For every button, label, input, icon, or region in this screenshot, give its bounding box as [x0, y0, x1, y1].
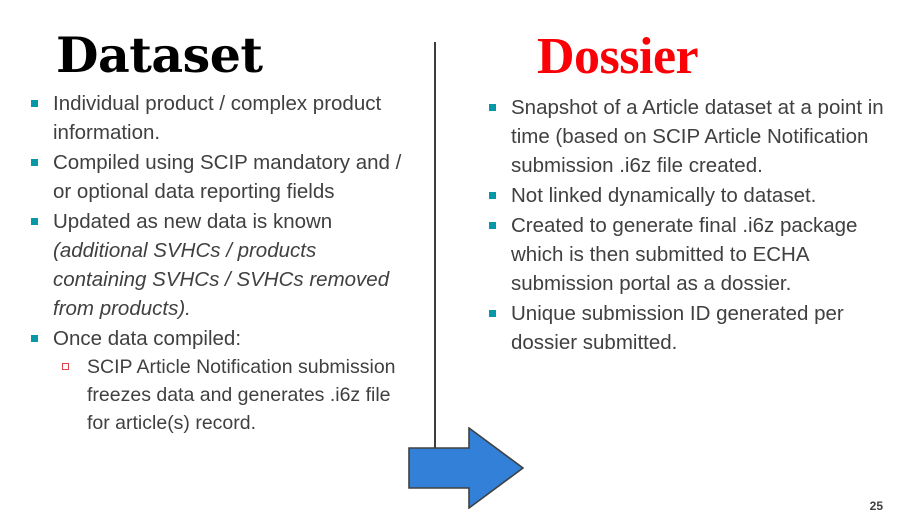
slide-canvas: Dataset Individual product / complex pro… — [0, 0, 897, 525]
list-item: Once data compiled: SCIP Article Notific… — [22, 324, 402, 437]
list-item-text: Not linked dynamically to dataset. — [511, 184, 816, 207]
square-bullet-icon — [489, 192, 496, 199]
sub-list-item-text: SCIP Article Notification submission fre… — [87, 356, 396, 434]
square-bullet-icon — [31, 218, 38, 225]
list-item-text: Individual product / complex product inf… — [53, 92, 381, 144]
list-item: Updated as new data is known (additional… — [22, 207, 402, 323]
right-arrow-icon — [408, 427, 524, 509]
dossier-title: Dossier — [480, 30, 887, 85]
list-item-text: Unique submission ID generated per dossi… — [511, 302, 844, 354]
dataset-sub-bullet-list: SCIP Article Notification submission fre… — [53, 353, 402, 437]
list-item-text: Updated as new data is known — [53, 210, 332, 233]
page-number: 25 — [870, 499, 883, 513]
column-divider — [434, 42, 436, 456]
dataset-title: Dataset — [22, 30, 402, 81]
square-bullet-icon — [489, 310, 496, 317]
list-item-text: Snapshot of a Article dataset at a point… — [511, 96, 884, 177]
list-item-text: Once data compiled: — [53, 327, 241, 350]
list-item: Individual product / complex product inf… — [22, 89, 402, 147]
square-bullet-icon — [31, 159, 38, 166]
list-item-text: Compiled using SCIP mandatory and / or o… — [53, 151, 401, 203]
dataset-bullet-list: Individual product / complex product inf… — [22, 89, 402, 437]
list-item-emphasis-text: (additional SVHCs / products containing … — [53, 239, 389, 320]
list-item: Unique submission ID generated per dossi… — [480, 299, 887, 357]
list-item: Compiled using SCIP mandatory and / or o… — [22, 148, 402, 206]
square-bullet-icon — [489, 104, 496, 111]
right-arrow-shape — [409, 428, 523, 508]
list-item: Created to generate final .i6z package w… — [480, 211, 887, 298]
square-bullet-icon — [31, 335, 38, 342]
left-column: Dataset Individual product / complex pro… — [0, 0, 420, 525]
dossier-bullet-list: Snapshot of a Article dataset at a point… — [480, 93, 887, 357]
square-bullet-icon — [31, 100, 38, 107]
right-column: Dossier Snapshot of a Article dataset at… — [466, 0, 897, 525]
hollow-square-bullet-icon — [62, 363, 69, 370]
list-item-text: Created to generate final .i6z package w… — [511, 214, 857, 295]
square-bullet-icon — [489, 222, 496, 229]
list-item: Snapshot of a Article dataset at a point… — [480, 93, 887, 180]
sub-list-item: SCIP Article Notification submission fre… — [53, 353, 402, 437]
list-item: Not linked dynamically to dataset. — [480, 181, 887, 210]
